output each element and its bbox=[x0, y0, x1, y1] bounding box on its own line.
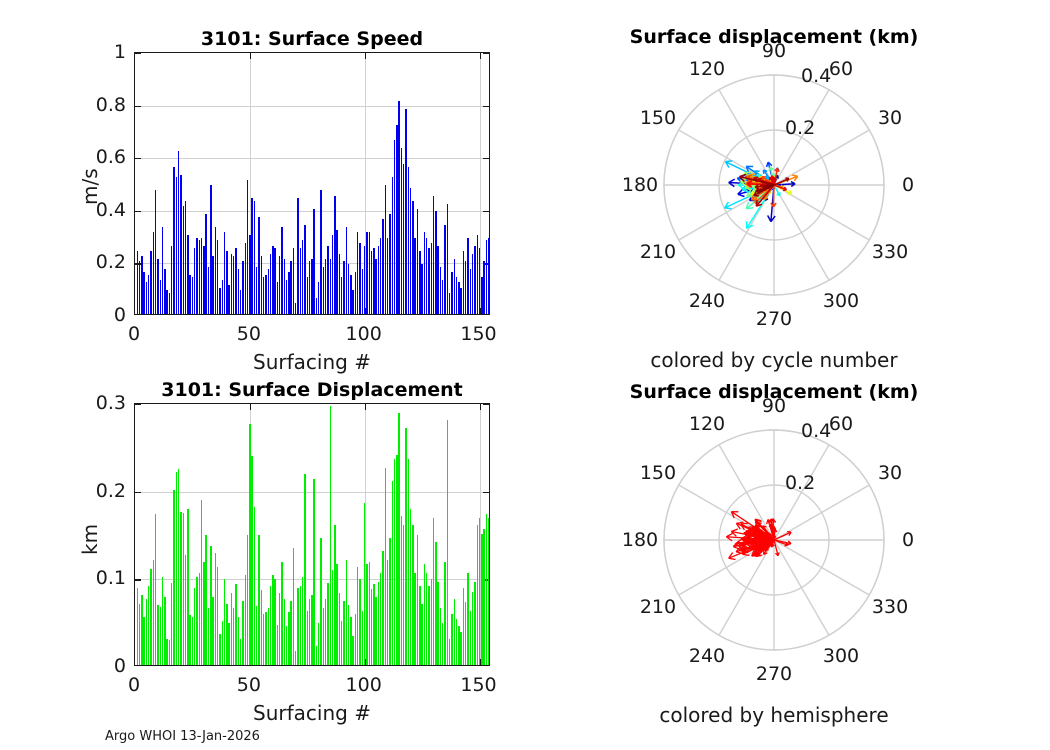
bar bbox=[208, 608, 209, 665]
bar bbox=[224, 232, 225, 314]
bar bbox=[183, 513, 184, 665]
speed-plot-area bbox=[134, 52, 490, 315]
bar bbox=[180, 512, 181, 665]
bar bbox=[366, 232, 367, 314]
figure-footer: Argo WHOI 13-Jan-2026 bbox=[105, 729, 260, 744]
vector-arrowhead bbox=[758, 178, 762, 179]
bar bbox=[405, 109, 406, 314]
bar bbox=[215, 227, 216, 314]
bar bbox=[284, 599, 285, 665]
bar bbox=[465, 602, 466, 665]
bar bbox=[387, 560, 388, 665]
polar-angle-label: 150 bbox=[640, 107, 676, 129]
bar bbox=[199, 240, 200, 314]
x-axis-tick-label: 50 bbox=[237, 323, 261, 345]
bar bbox=[316, 298, 317, 314]
bar bbox=[316, 646, 317, 665]
bar bbox=[254, 507, 255, 665]
bar bbox=[449, 639, 450, 665]
bar bbox=[295, 303, 296, 314]
bar bbox=[421, 604, 422, 665]
bar bbox=[171, 246, 172, 314]
bar bbox=[162, 577, 163, 665]
bar bbox=[157, 259, 158, 314]
bar bbox=[217, 567, 218, 665]
bar bbox=[153, 560, 154, 665]
bar bbox=[428, 586, 429, 665]
bar bbox=[231, 254, 232, 314]
bar bbox=[419, 586, 420, 665]
bar bbox=[440, 608, 441, 665]
bar bbox=[366, 564, 367, 665]
bar bbox=[302, 240, 303, 314]
bar bbox=[392, 177, 393, 314]
bar bbox=[483, 261, 484, 314]
bar bbox=[334, 196, 335, 314]
bar bbox=[352, 636, 353, 665]
polar-angle-label: 60 bbox=[829, 413, 853, 435]
bar bbox=[392, 481, 393, 665]
bar bbox=[178, 469, 179, 665]
bar bbox=[334, 525, 335, 665]
bar bbox=[245, 575, 246, 665]
polar-radius-label: 0.4 bbox=[801, 65, 831, 87]
bar bbox=[454, 259, 455, 314]
displacement-vector bbox=[773, 185, 774, 207]
bar bbox=[160, 607, 161, 665]
bar bbox=[382, 551, 383, 665]
vector-arrowhead bbox=[729, 558, 736, 559]
bar bbox=[474, 582, 475, 665]
bar bbox=[350, 617, 351, 665]
bar bbox=[346, 560, 347, 665]
polar-angle-label: 150 bbox=[640, 462, 676, 484]
bar bbox=[431, 579, 432, 665]
polar-grid-spoke bbox=[774, 540, 829, 635]
bar bbox=[150, 251, 151, 314]
bar bbox=[194, 588, 195, 665]
displacement-x-axis-label: Surfacing # bbox=[134, 701, 490, 725]
bar bbox=[481, 534, 482, 666]
y-axis-tick-label: 0.4 bbox=[62, 199, 126, 221]
bar bbox=[371, 251, 372, 314]
y-axis-tick-label: 0.1 bbox=[62, 567, 126, 589]
bar bbox=[143, 617, 144, 665]
bar bbox=[290, 601, 291, 665]
bar bbox=[150, 569, 151, 665]
bar bbox=[139, 604, 140, 665]
bar bbox=[362, 611, 363, 665]
bar bbox=[380, 238, 381, 314]
bar bbox=[460, 632, 461, 665]
bar bbox=[359, 579, 360, 665]
bar bbox=[325, 259, 326, 314]
bar bbox=[270, 586, 271, 665]
polar-grid-spoke bbox=[719, 445, 774, 540]
bar bbox=[479, 518, 480, 665]
bar bbox=[279, 593, 280, 665]
bar bbox=[242, 601, 243, 665]
vector-arrowhead bbox=[725, 208, 732, 209]
x-axis-tick-label: 0 bbox=[128, 323, 140, 345]
x-axis-tick-label: 0 bbox=[128, 674, 140, 696]
bar bbox=[148, 586, 149, 665]
bar bbox=[472, 254, 473, 314]
bar bbox=[412, 201, 413, 314]
bar bbox=[477, 235, 478, 314]
bar bbox=[437, 582, 438, 665]
bar bbox=[352, 290, 353, 314]
vector-series bbox=[725, 161, 798, 228]
bar bbox=[274, 248, 275, 314]
bar bbox=[277, 625, 278, 665]
bar bbox=[300, 586, 301, 665]
bar bbox=[263, 277, 264, 314]
bar bbox=[389, 214, 390, 314]
bar bbox=[256, 267, 257, 314]
bar bbox=[465, 261, 466, 314]
bar bbox=[208, 267, 209, 314]
bar bbox=[286, 626, 287, 665]
bar bbox=[162, 227, 163, 314]
polar-angle-label: 240 bbox=[689, 645, 725, 667]
bar bbox=[143, 272, 144, 314]
bar bbox=[304, 474, 305, 665]
bar bbox=[382, 219, 383, 314]
bar bbox=[307, 277, 308, 314]
y-axis-tick-label: 0.2 bbox=[62, 480, 126, 502]
bar bbox=[210, 546, 211, 665]
bar bbox=[412, 525, 413, 665]
bar bbox=[323, 608, 324, 665]
vector-arrowhead bbox=[784, 545, 787, 546]
bar bbox=[212, 597, 213, 665]
bar bbox=[330, 259, 331, 314]
x-axis-tick-label: 50 bbox=[237, 674, 261, 696]
bar bbox=[380, 573, 381, 665]
bar bbox=[309, 599, 310, 665]
bar bbox=[320, 538, 321, 665]
bar bbox=[137, 588, 138, 665]
bar bbox=[240, 290, 241, 314]
x-axis-tick-label: 150 bbox=[460, 674, 496, 696]
bar bbox=[141, 256, 142, 314]
bar bbox=[201, 500, 202, 665]
bar bbox=[327, 583, 328, 665]
bar bbox=[463, 588, 464, 665]
bar bbox=[210, 185, 211, 314]
bar bbox=[293, 248, 294, 314]
bar bbox=[389, 538, 390, 665]
bar bbox=[369, 232, 370, 314]
vector-arrowhead bbox=[725, 161, 732, 162]
bar bbox=[196, 577, 197, 665]
bar bbox=[251, 198, 252, 314]
bar bbox=[311, 595, 312, 665]
bar bbox=[281, 227, 282, 314]
bar bbox=[426, 573, 427, 665]
bar bbox=[451, 614, 452, 665]
bar bbox=[447, 420, 448, 665]
bar bbox=[398, 413, 399, 665]
bar bbox=[263, 614, 264, 665]
polar-angle-label: 60 bbox=[829, 58, 853, 80]
bar bbox=[396, 455, 397, 665]
bar bbox=[242, 261, 243, 314]
displacement-chart-title: 3101: Surface Displacement bbox=[134, 379, 490, 401]
bar bbox=[224, 579, 225, 665]
bar bbox=[424, 232, 425, 314]
bar bbox=[343, 261, 344, 314]
vector-arrowhead bbox=[731, 529, 738, 532]
bar bbox=[233, 256, 234, 314]
polar-angle-label: 120 bbox=[689, 413, 725, 435]
bar bbox=[463, 251, 464, 314]
bar bbox=[265, 612, 266, 665]
bar bbox=[258, 217, 259, 314]
bar bbox=[189, 615, 190, 665]
vector-arrowhead bbox=[783, 190, 786, 191]
bar bbox=[288, 272, 289, 314]
bar bbox=[245, 243, 246, 314]
bar bbox=[284, 259, 285, 314]
polar-axes bbox=[664, 430, 884, 650]
bar bbox=[435, 211, 436, 314]
bar bbox=[460, 288, 461, 314]
bar bbox=[433, 196, 434, 314]
y-axis-tick-label: 0.2 bbox=[62, 251, 126, 273]
bar bbox=[410, 509, 411, 665]
polar-angle-label: 300 bbox=[823, 645, 859, 667]
bar bbox=[249, 424, 250, 665]
bar bbox=[173, 167, 174, 314]
bar bbox=[454, 599, 455, 665]
y-axis-tick-label: 0.6 bbox=[62, 146, 126, 168]
bar bbox=[272, 246, 273, 314]
polar-angle-label: 330 bbox=[872, 241, 908, 263]
bar bbox=[228, 285, 229, 314]
bar bbox=[180, 175, 181, 314]
bar bbox=[215, 553, 216, 665]
bar bbox=[137, 251, 138, 314]
bar bbox=[357, 232, 358, 314]
polar-angle-label: 240 bbox=[689, 290, 725, 312]
bar bbox=[254, 201, 255, 314]
bar bbox=[403, 525, 404, 665]
bar bbox=[318, 282, 319, 314]
bar bbox=[336, 564, 337, 665]
bar bbox=[458, 282, 459, 314]
bar bbox=[141, 595, 142, 665]
y-axis-tick-label: 0.3 bbox=[62, 392, 126, 414]
polar-cycle-caption: colored by cycle number bbox=[596, 348, 952, 372]
bar bbox=[419, 251, 420, 314]
bar bbox=[408, 167, 409, 314]
bar bbox=[313, 479, 314, 665]
bar bbox=[192, 277, 193, 314]
bar bbox=[414, 573, 415, 665]
bar bbox=[414, 238, 415, 314]
bar bbox=[307, 611, 308, 665]
bar bbox=[313, 209, 314, 314]
bar bbox=[394, 140, 395, 314]
bar bbox=[348, 605, 349, 665]
bar bbox=[343, 601, 344, 665]
bar bbox=[169, 293, 170, 314]
bar bbox=[265, 275, 266, 314]
bar bbox=[442, 280, 443, 314]
bar bbox=[330, 406, 331, 665]
bar bbox=[470, 611, 471, 665]
bar bbox=[433, 518, 434, 665]
speed-chart-title: 3101: Surface Speed bbox=[134, 28, 490, 50]
bar bbox=[336, 230, 337, 314]
polar-angle-label: 90 bbox=[762, 395, 786, 417]
bar bbox=[222, 621, 223, 665]
y-axis-tick-label: 0 bbox=[62, 304, 126, 326]
bar bbox=[157, 605, 158, 665]
bar bbox=[488, 238, 489, 314]
bar bbox=[155, 190, 156, 314]
bar bbox=[456, 619, 457, 665]
bar bbox=[219, 634, 220, 665]
polar-angle-label: 0 bbox=[902, 174, 914, 196]
bar bbox=[219, 288, 220, 314]
bar bbox=[146, 599, 147, 665]
bar bbox=[268, 269, 269, 314]
bar bbox=[189, 275, 190, 314]
bar bbox=[435, 542, 436, 665]
bar bbox=[302, 577, 303, 665]
vector-arrowhead bbox=[741, 523, 748, 524]
polar-angle-label: 270 bbox=[756, 308, 792, 330]
polar-angle-label: 180 bbox=[622, 174, 658, 196]
bar bbox=[300, 248, 301, 314]
bar bbox=[486, 240, 487, 314]
bar bbox=[187, 509, 188, 665]
bar bbox=[437, 246, 438, 314]
polar-angle-label: 30 bbox=[878, 462, 902, 484]
bar bbox=[398, 101, 399, 314]
vector-arrowhead bbox=[792, 175, 797, 176]
bar bbox=[277, 282, 278, 314]
bar bbox=[444, 225, 445, 314]
bar bbox=[139, 261, 140, 314]
bar bbox=[341, 621, 342, 665]
polar-cycle-plot: 03060901201501802102402703003300.20.4 bbox=[664, 75, 884, 295]
bar bbox=[203, 562, 204, 665]
bar bbox=[297, 588, 298, 665]
bar bbox=[355, 614, 356, 665]
polar-radius-label: 0.4 bbox=[801, 420, 831, 442]
bar bbox=[205, 535, 206, 665]
bar bbox=[477, 525, 478, 665]
bar bbox=[359, 243, 360, 314]
bar bbox=[431, 243, 432, 314]
bar bbox=[350, 275, 351, 314]
bar bbox=[403, 164, 404, 314]
bar bbox=[169, 640, 170, 665]
polar-hemisphere-plot: 03060901201501802102402703003300.20.4 bbox=[664, 430, 884, 650]
bar bbox=[228, 623, 229, 665]
bar bbox=[369, 562, 370, 665]
bar bbox=[417, 535, 418, 665]
polar-radius-label: 0.2 bbox=[785, 117, 815, 139]
vector-arrowhead bbox=[787, 544, 791, 545]
polar-angle-label: 270 bbox=[756, 663, 792, 685]
bar bbox=[160, 280, 161, 314]
bar bbox=[166, 290, 167, 314]
bar bbox=[362, 269, 363, 314]
bar bbox=[309, 261, 310, 314]
bar bbox=[442, 623, 443, 665]
bar bbox=[203, 246, 204, 314]
bar bbox=[279, 256, 280, 314]
bar bbox=[327, 246, 328, 314]
bar bbox=[146, 282, 147, 314]
bar bbox=[233, 608, 234, 665]
bar bbox=[194, 248, 195, 314]
bar bbox=[171, 583, 172, 665]
polar-angle-label: 210 bbox=[640, 596, 676, 618]
bar bbox=[447, 204, 448, 314]
bar bbox=[385, 468, 386, 665]
bar bbox=[268, 608, 269, 665]
bar bbox=[293, 548, 294, 665]
bar bbox=[375, 597, 376, 665]
bar bbox=[304, 225, 305, 314]
bar bbox=[185, 555, 186, 665]
bar bbox=[235, 584, 236, 665]
bar bbox=[373, 248, 374, 314]
bar bbox=[421, 264, 422, 314]
bar bbox=[458, 626, 459, 665]
bar bbox=[405, 428, 406, 665]
polar-angle-label: 330 bbox=[872, 596, 908, 618]
bar bbox=[272, 575, 273, 665]
bar bbox=[196, 238, 197, 314]
bar bbox=[164, 597, 165, 665]
bar bbox=[325, 599, 326, 665]
vector-arrowhead bbox=[738, 194, 745, 196]
bar bbox=[440, 267, 441, 314]
x-axis-tick-label: 100 bbox=[346, 674, 382, 696]
y-axis-tick-label: 0 bbox=[62, 655, 126, 677]
bar bbox=[375, 259, 376, 314]
bar-series bbox=[135, 53, 489, 314]
bar bbox=[474, 246, 475, 314]
bar bbox=[408, 459, 409, 665]
bar bbox=[185, 201, 186, 314]
polar-angle-label: 180 bbox=[622, 529, 658, 551]
bar bbox=[201, 238, 202, 314]
polar-angle-label: 300 bbox=[823, 290, 859, 312]
bar bbox=[401, 148, 402, 314]
polar-grid-spoke bbox=[774, 540, 869, 595]
bar bbox=[240, 639, 241, 665]
bar bbox=[456, 277, 457, 314]
bar-series bbox=[135, 404, 489, 665]
bar bbox=[270, 254, 271, 314]
bar bbox=[348, 264, 349, 314]
bar bbox=[176, 472, 177, 665]
bar bbox=[258, 535, 259, 665]
bar bbox=[247, 535, 248, 665]
bar bbox=[187, 235, 188, 314]
bar bbox=[472, 592, 473, 665]
bar bbox=[451, 272, 452, 314]
bar bbox=[281, 562, 282, 665]
